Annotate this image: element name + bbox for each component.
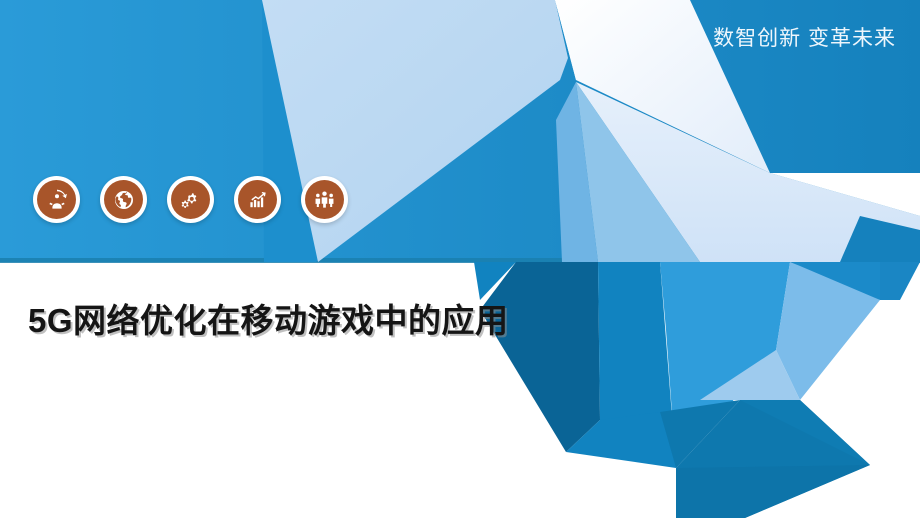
icon-badge-2[interactable] [100,176,147,223]
slide-canvas: 数智创新 变革未来 [0,0,920,518]
gears-icon [171,180,210,219]
icon-badge-5[interactable] [301,176,348,223]
polygon-background [0,0,920,518]
page-title: 5G网络优化在移动游戏中的应用 [28,298,568,345]
recycle-growth-icon [37,180,76,219]
people-team-icon [305,180,344,219]
icon-strip [33,176,348,223]
icon-badge-3[interactable] [167,176,214,223]
tagline-text: 数智创新 变革未来 [713,26,896,51]
icon-badge-1[interactable] [33,176,80,223]
icon-badge-4[interactable] [234,176,281,223]
bar-chart-growth-icon [238,180,277,219]
title-block: 5G网络优化在移动游戏中的应用 [28,298,568,345]
globe-icon [104,180,143,219]
